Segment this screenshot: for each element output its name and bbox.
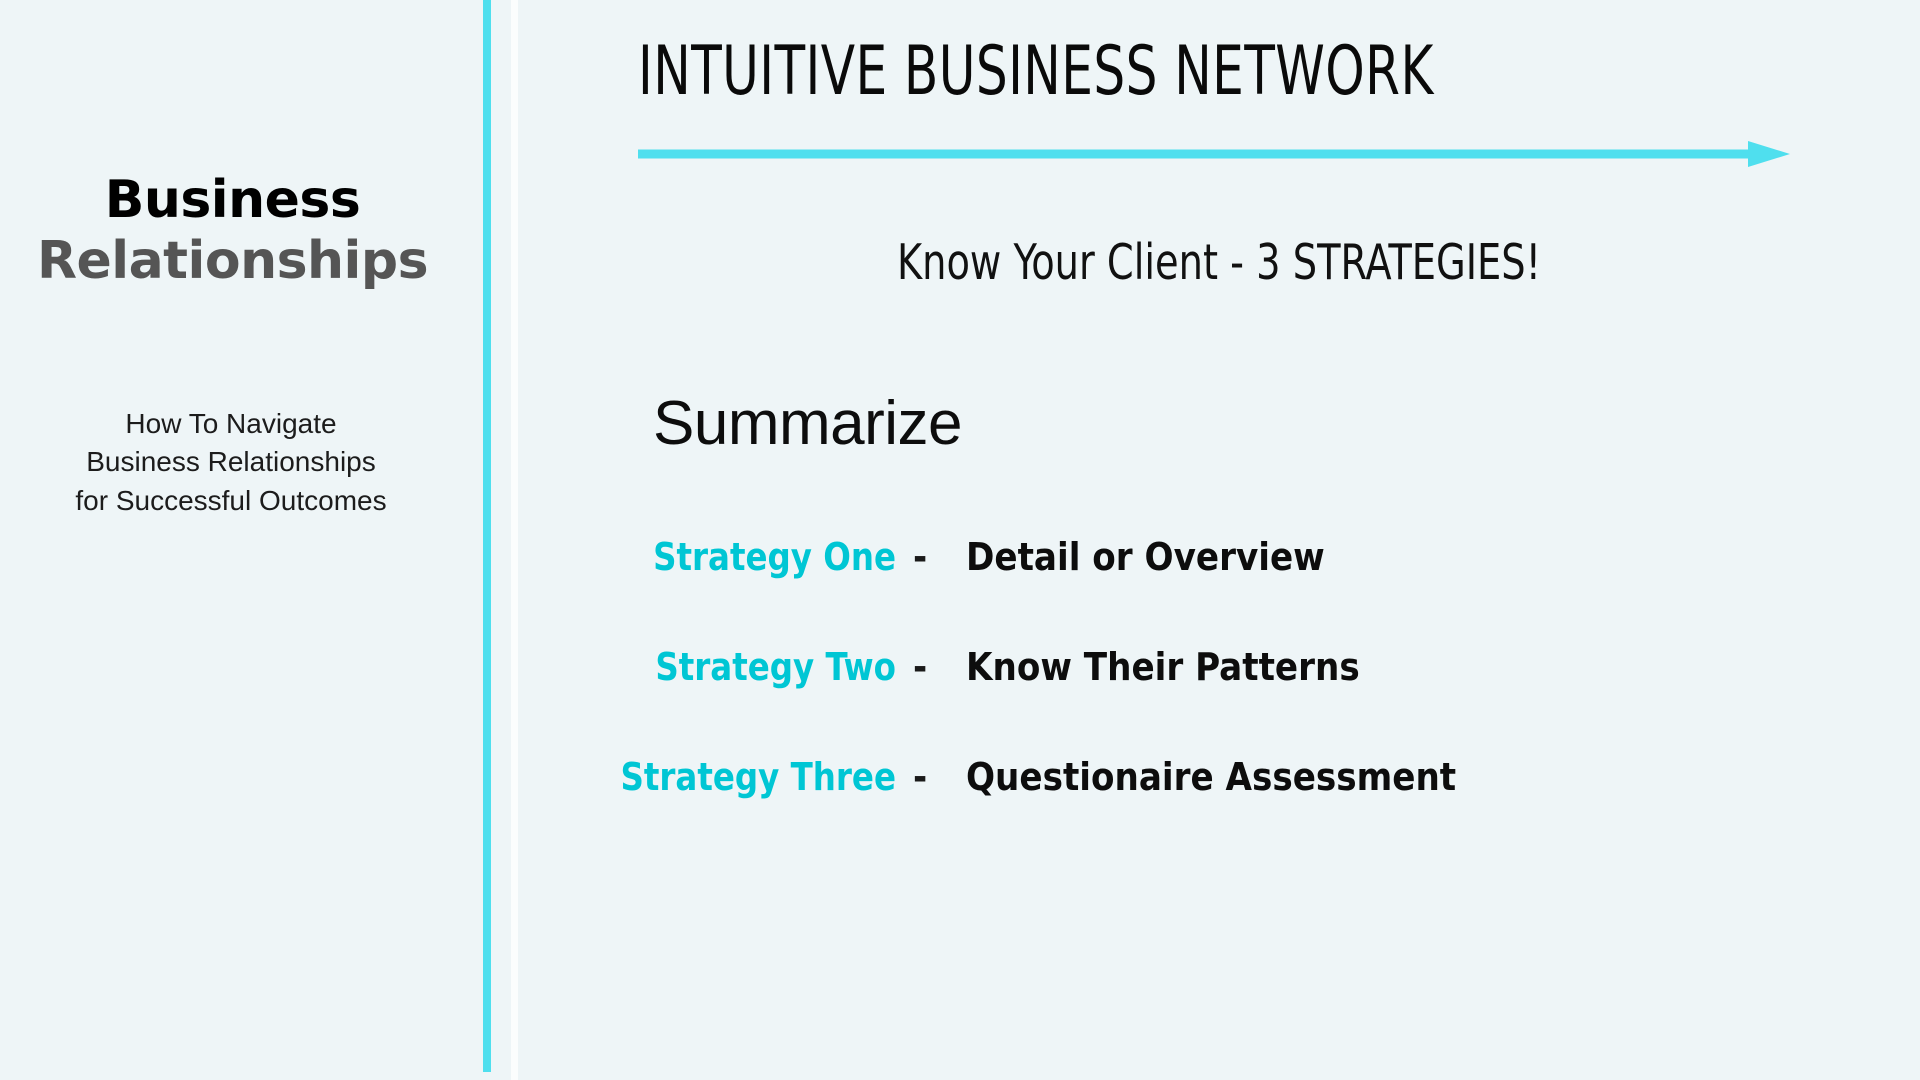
strategy-value: Questionaire Assessment [966,755,1456,799]
sidebar-title-line-2: Relationships [0,231,465,292]
page-title: INTUITIVE BUSINESS NETWORK [638,32,1434,111]
sidebar-title: Business Relationships [0,170,465,293]
vertical-divider-light [511,0,518,1080]
vertical-divider-cyan [483,0,491,1072]
sidebar-subtitle-line-1: How To Navigate [0,405,462,443]
strategy-value: Detail or Overview [966,535,1325,579]
strategy-label: Strategy One [573,535,896,579]
strategy-dash-separator: - [913,535,927,579]
page-subtitle: Know Your Client - 3 STRATEGIES! [609,234,1829,291]
strategy-label: Strategy Two [573,645,896,689]
sidebar-panel: Business Relationships How To Navigate B… [0,0,483,1080]
sidebar-title-line-1: Business [0,170,465,231]
strategy-list: Strategy One - Detail or Overview Strate… [518,535,1920,865]
strategy-dash-separator: - [913,645,927,689]
strategy-dash-separator: - [913,755,927,799]
sidebar-subtitle-line-3: for Successful Outcomes [0,482,462,520]
sidebar-subtitle-line-2: Business Relationships [0,443,462,481]
strategy-row: Strategy One - Detail or Overview [518,535,1920,645]
strategy-label: Strategy Three [573,755,896,799]
sidebar-subtitle: How To Navigate Business Relationships f… [0,405,462,520]
right-arrow-icon [638,140,1790,168]
main-panel: INTUITIVE BUSINESS NETWORK Know Your Cli… [518,0,1920,1080]
strategy-value: Know Their Patterns [966,645,1360,689]
strategy-row: Strategy Three - Questionaire Assessment [518,755,1920,865]
slide-root: Business Relationships How To Navigate B… [0,0,1920,1080]
strategy-row: Strategy Two - Know Their Patterns [518,645,1920,755]
section-heading: Summarize [653,388,962,459]
